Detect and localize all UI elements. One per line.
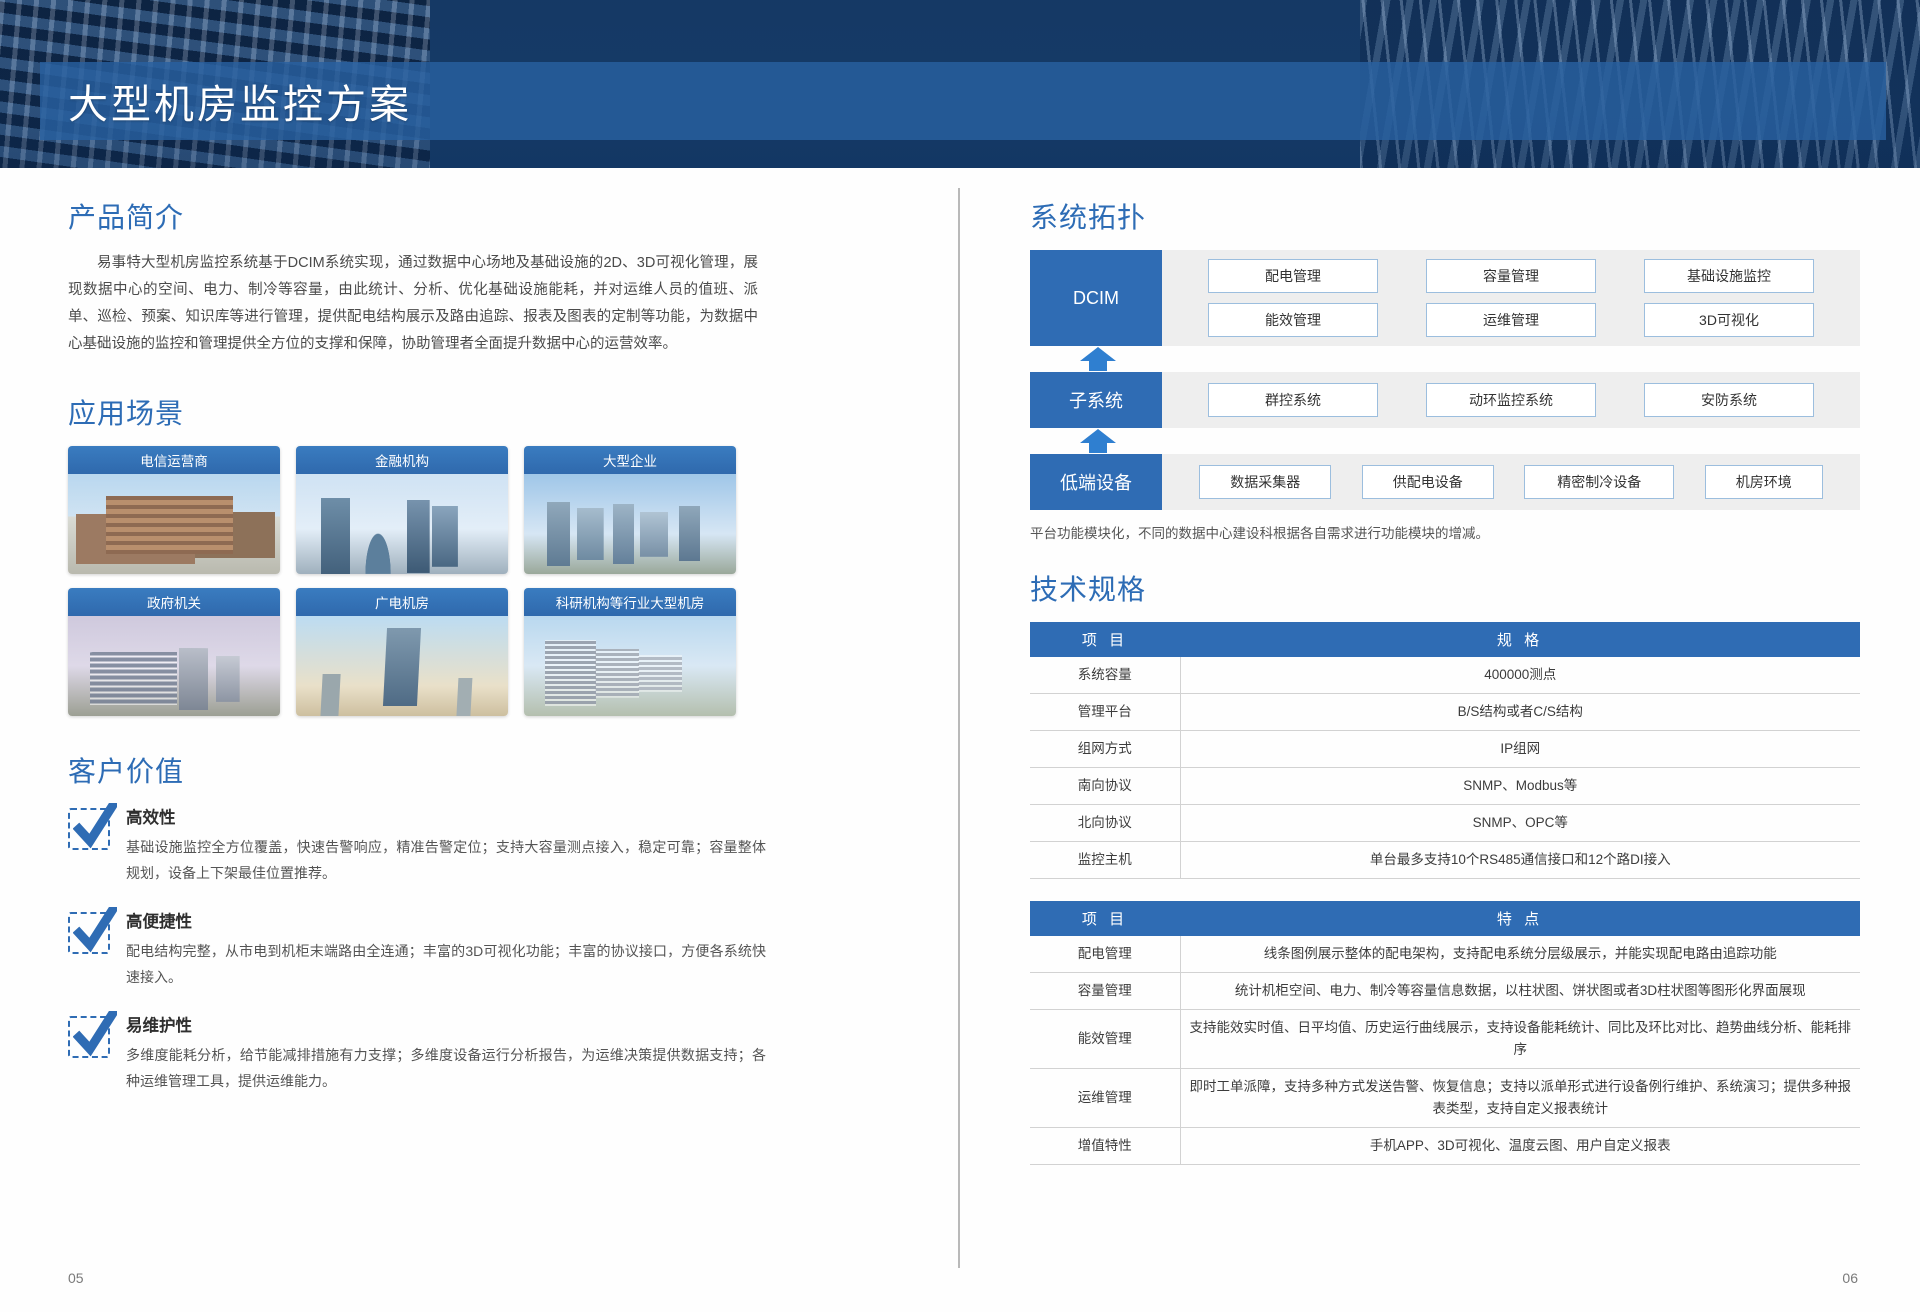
scenario-card-label: 广电机房 xyxy=(296,588,508,616)
topology-module: 3D可视化 xyxy=(1644,303,1814,337)
topology-row-device: 低端设备 数据采集器 供配电设备 精密制冷设备 机房环境 xyxy=(1030,454,1860,510)
table-row: 组网方式 IP组网 xyxy=(1030,731,1860,768)
table-header-cell: 特 点 xyxy=(1180,901,1860,936)
table-cell-value: 单台最多支持10个RS485通信接口和12个路DI接入 xyxy=(1180,842,1860,879)
checkmark-icon xyxy=(68,1016,110,1058)
checkmark-icon xyxy=(68,808,110,850)
scenario-card: 电信运营商 xyxy=(68,446,280,574)
table-row: 增值特性 手机APP、3D可视化、温度云图、用户自定义报表 xyxy=(1030,1128,1860,1165)
heading-tech-specs: 技术规格 xyxy=(1030,568,1860,608)
value-item: 高便捷性 配电结构完整，从市电到机柜末端路由全连通；丰富的3D可视化功能；丰富的… xyxy=(68,908,898,990)
heading-customer-value: 客户价值 xyxy=(68,750,898,790)
value-desc: 配电结构完整，从市电到机柜末端路由全连通；丰富的3D可视化功能；丰富的协议接口，… xyxy=(126,938,766,990)
topology-note: 平台功能模块化，不同的数据中心建设科根据各自需求进行功能模块的增减。 xyxy=(1030,522,1860,542)
table-cell-item: 配电管理 xyxy=(1030,936,1180,973)
value-item: 高效性 基础设施监控全方位覆盖，快速告警响应，精准告警定位；支持大容量测点接入，… xyxy=(68,804,898,886)
table-header-cell: 项 目 xyxy=(1030,901,1180,936)
scenario-card-label: 电信运营商 xyxy=(68,446,280,474)
scenario-card-label: 金融机构 xyxy=(296,446,508,474)
page-title: 大型机房监控方案 xyxy=(68,72,412,130)
product-intro-paragraph: 易事特大型机房监控系统基于DCIM系统实现，通过数据中心场地及基础设施的2D、3… xyxy=(68,250,758,358)
table-cell-value: B/S结构或者C/S结构 xyxy=(1180,694,1860,731)
topology-arrow-up xyxy=(1030,346,1860,372)
table-cell-item: 容量管理 xyxy=(1030,973,1180,1010)
value-item: 易维护性 多维度能耗分析，给节能减排措施有力支撑；多维度设备运行分析报告，为运维… xyxy=(68,1012,898,1094)
topology-module: 容量管理 xyxy=(1426,259,1596,293)
table-cell-item: 组网方式 xyxy=(1030,731,1180,768)
heading-product-intro: 产品简介 xyxy=(68,196,898,236)
topology-module: 运维管理 xyxy=(1426,303,1596,337)
table-row: 系统容量 400000测点 xyxy=(1030,657,1860,694)
arrow-up-icon xyxy=(1078,429,1118,453)
topology-module: 配电管理 xyxy=(1208,259,1378,293)
table-cell-item: 管理平台 xyxy=(1030,694,1180,731)
scenario-photo-enterprise xyxy=(524,474,736,574)
topology-module-group: 配电管理 容量管理 基础设施监控 能效管理 运维管理 3D可视化 xyxy=(1162,250,1860,346)
table-row: 能效管理 支持能效实时值、日平均值、历史运行曲线展示，支持设备能耗统计、同比及环… xyxy=(1030,1010,1860,1069)
scenario-card: 科研机构等行业大型机房 xyxy=(524,588,736,716)
spec-table-primary: 项 目 规 格 系统容量 400000测点 管理平台 B/S结构或者C/S结构 … xyxy=(1030,622,1860,879)
value-title: 易维护性 xyxy=(126,1012,766,1036)
topology-module-group: 数据采集器 供配电设备 精密制冷设备 机房环境 xyxy=(1162,454,1860,510)
topology-row-subsystem: 子系统 群控系统 动环监控系统 安防系统 xyxy=(1030,372,1860,428)
table-row: 运维管理 即时工单派障，支持多种方式发送告警、恢复信息；支持以派单形式进行设备例… xyxy=(1030,1069,1860,1128)
table-row: 监控主机 单台最多支持10个RS485通信接口和12个路DI接入 xyxy=(1030,842,1860,879)
checkmark-icon xyxy=(68,912,110,954)
scenario-card-label: 大型企业 xyxy=(524,446,736,474)
table-cell-item: 增值特性 xyxy=(1030,1128,1180,1165)
page-number-left: 05 xyxy=(68,1270,84,1286)
check-glyph xyxy=(73,1011,117,1061)
scenario-photo-finance xyxy=(296,474,508,574)
topology-arrow-up xyxy=(1030,428,1860,454)
table-header-cell: 项 目 xyxy=(1030,622,1180,657)
table-cell-value: 手机APP、3D可视化、温度云图、用户自定义报表 xyxy=(1180,1128,1860,1165)
scenario-card-label: 政府机关 xyxy=(68,588,280,616)
spec-table-features: 项 目 特 点 配电管理 线条图例展示整体的配电架构，支持配电系统分层级展示，并… xyxy=(1030,901,1860,1165)
table-header-row: 项 目 特 点 xyxy=(1030,901,1860,936)
heading-scenarios: 应用场景 xyxy=(68,392,898,432)
topology-module-group: 群控系统 动环监控系统 安防系统 xyxy=(1162,372,1860,428)
topology-module: 动环监控系统 xyxy=(1426,383,1596,417)
customer-value-list: 高效性 基础设施监控全方位覆盖，快速告警响应，精准告警定位；支持大容量测点接入，… xyxy=(68,804,898,1094)
topology-module: 安防系统 xyxy=(1644,383,1814,417)
table-row: 配电管理 线条图例展示整体的配电架构，支持配电系统分层级展示，并能实现配电路由追… xyxy=(1030,936,1860,973)
arrow-up-icon xyxy=(1078,347,1118,371)
table-cell-item: 运维管理 xyxy=(1030,1069,1180,1128)
table-header-cell: 规 格 xyxy=(1180,622,1860,657)
table-row: 管理平台 B/S结构或者C/S结构 xyxy=(1030,694,1860,731)
table-cell-value: IP组网 xyxy=(1180,731,1860,768)
table-cell-value: 400000测点 xyxy=(1180,657,1860,694)
topology-module: 机房环境 xyxy=(1705,465,1823,499)
left-page: 产品简介 易事特大型机房监控系统基于DCIM系统实现，通过数据中心场地及基础设施… xyxy=(0,168,958,1312)
heading-system-topology: 系统拓扑 xyxy=(1030,196,1860,236)
table-cell-value: SNMP、Modbus等 xyxy=(1180,768,1860,805)
topology-module: 基础设施监控 xyxy=(1644,259,1814,293)
table-cell-value: 线条图例展示整体的配电架构，支持配电系统分层级展示，并能实现配电路由追踪功能 xyxy=(1180,936,1860,973)
topology-module: 供配电设备 xyxy=(1362,465,1494,499)
scenario-card: 政府机关 xyxy=(68,588,280,716)
scenario-photo-telecom xyxy=(68,474,280,574)
page-number-right: 06 xyxy=(1842,1270,1858,1286)
scenario-card-label: 科研机构等行业大型机房 xyxy=(524,588,736,616)
scenario-card-grid: 电信运营商 金融机构 大型企业 政府机关 广电机房 xyxy=(68,446,898,716)
table-row: 容量管理 统计机柜空间、电力、制冷等容量信息数据，以柱状图、饼状图或者3D柱状图… xyxy=(1030,973,1860,1010)
right-page: 系统拓扑 DCIM 配电管理 容量管理 基础设施监控 能效管理 运维管理 3D可… xyxy=(960,168,1920,1312)
topology-module: 能效管理 xyxy=(1208,303,1378,337)
check-glyph xyxy=(73,907,117,957)
table-row: 北向协议 SNMP、OPC等 xyxy=(1030,805,1860,842)
table-cell-value: 即时工单派障，支持多种方式发送告警、恢复信息；支持以派单形式进行设备例行维护、系… xyxy=(1180,1069,1860,1128)
scenario-card: 广电机房 xyxy=(296,588,508,716)
page-spread: 产品简介 易事特大型机房监控系统基于DCIM系统实现，通过数据中心场地及基础设施… xyxy=(0,168,1920,1312)
table-cell-item: 北向协议 xyxy=(1030,805,1180,842)
topology-module: 精密制冷设备 xyxy=(1524,465,1674,499)
table-header-row: 项 目 规 格 xyxy=(1030,622,1860,657)
table-row: 南向协议 SNMP、Modbus等 xyxy=(1030,768,1860,805)
topology-module: 群控系统 xyxy=(1208,383,1378,417)
topology-row-dcim: DCIM 配电管理 容量管理 基础设施监控 能效管理 运维管理 3D可视化 xyxy=(1030,250,1860,346)
table-cell-item: 能效管理 xyxy=(1030,1010,1180,1069)
brochure-page: 大型机房监控方案 产品简介 易事特大型机房监控系统基于DCIM系统实现，通过数据… xyxy=(0,0,1920,1312)
table-cell-item: 监控主机 xyxy=(1030,842,1180,879)
topology-row-label: 子系统 xyxy=(1030,372,1162,428)
table-cell-value: 统计机柜空间、电力、制冷等容量信息数据，以柱状图、饼状图或者3D柱状图等图形化界… xyxy=(1180,973,1860,1010)
scenario-photo-broadcast xyxy=(296,616,508,716)
value-title: 高便捷性 xyxy=(126,908,766,932)
page-title-bar: 大型机房监控方案 xyxy=(40,62,1886,140)
value-title: 高效性 xyxy=(126,804,766,828)
topology-module: 数据采集器 xyxy=(1199,465,1331,499)
table-cell-value: 支持能效实时值、日平均值、历史运行曲线展示，支持设备能耗统计、同比及环比对比、趋… xyxy=(1180,1010,1860,1069)
table-cell-item: 系统容量 xyxy=(1030,657,1180,694)
topology-row-label: DCIM xyxy=(1030,250,1162,346)
scenario-card: 大型企业 xyxy=(524,446,736,574)
value-desc: 基础设施监控全方位覆盖，快速告警响应，精准告警定位；支持大容量测点接入，稳定可靠… xyxy=(126,834,766,886)
scenario-card: 金融机构 xyxy=(296,446,508,574)
table-cell-item: 南向协议 xyxy=(1030,768,1180,805)
value-desc: 多维度能耗分析，给节能减排措施有力支撑；多维度设备运行分析报告，为运维决策提供数… xyxy=(126,1042,766,1094)
scenario-photo-government xyxy=(68,616,280,716)
check-glyph xyxy=(73,803,117,853)
topology-row-label: 低端设备 xyxy=(1030,454,1162,510)
scenario-photo-research xyxy=(524,616,736,716)
table-cell-value: SNMP、OPC等 xyxy=(1180,805,1860,842)
